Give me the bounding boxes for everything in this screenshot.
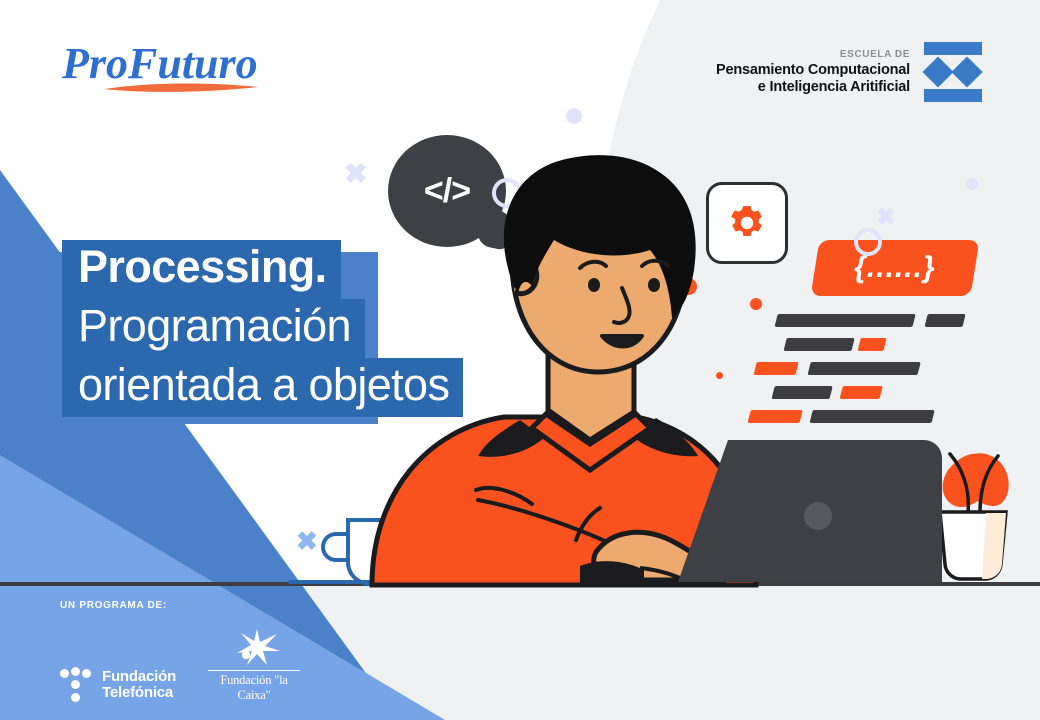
telefonica-dots-mark [60,667,92,703]
title-line-3: orientada a objetos [62,358,463,417]
slide-canvas: </> {......} ✖ ✖ ✖ ProFuturo ESCUELA DE … [0,0,1040,720]
potted-plant [940,453,1009,579]
code-lines-group [742,314,966,423]
title-line-1: Processing. [62,240,341,299]
title-line-2: Programación [62,299,365,358]
la-caixa-rule [208,670,300,671]
footer-eyebrow: UN PROGRAMA DE: [60,600,300,611]
telefonica-line2: Telefónica [102,685,176,701]
footer-sponsor-logos: Fundación Telefónica Fundación "la Caixa… [60,627,300,703]
fundacion-telefonica-logo[interactable]: Fundación Telefónica [60,667,176,703]
page-title: Processing. Programación orientada a obj… [62,240,463,417]
footer: UN PROGRAMA DE: Fundación Telefónica [60,600,300,703]
telefonica-line1: Fundación [102,669,176,685]
fundacion-la-caixa-logo[interactable]: Fundación "la Caixa" [208,627,300,703]
la-caixa-star-mark [208,627,300,667]
la-caixa-wordmark: Fundación "la Caixa" [208,673,300,703]
telefonica-wordmark: Fundación Telefónica [102,669,176,701]
